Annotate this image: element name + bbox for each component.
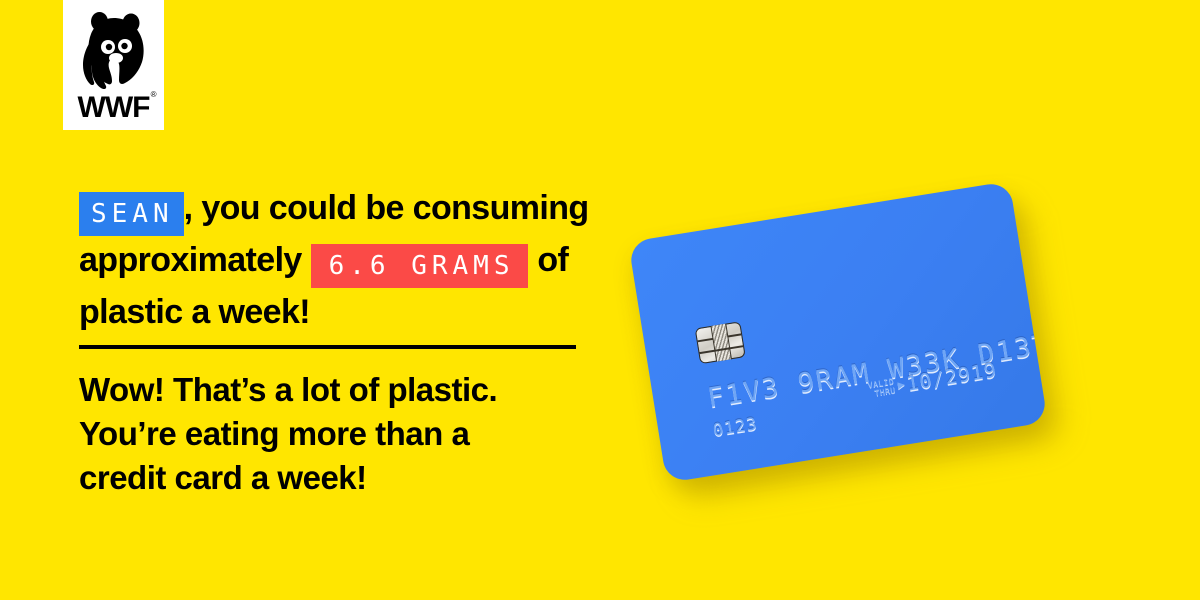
credit-card-illustration: F1V3 9RAM W33K D13T 0123 VALID THRU ▶ 10… [600,140,1120,560]
headline-part-1: , you could be consuming [184,189,589,227]
section-divider [79,345,576,349]
plastic-amount-highlight: 6.6 GRAMS [311,244,529,288]
headline-part-2: approximately [79,241,302,279]
headline: SEAN, you could be consuming approximate… [79,182,599,338]
valid-thru-label: VALID THRU [867,377,896,399]
subcopy-line-1: Wow! That’s a lot of plastic. [79,368,599,412]
emv-chip-contacts [710,324,731,362]
subcopy-line-3: credit card a week! [79,456,599,500]
wwf-logo-block: WWF® [63,0,164,130]
recipient-name-highlight: SEAN [79,192,184,236]
card-number-line-2: 0123 [712,414,760,441]
subcopy: Wow! That’s a lot of plastic. You’re eat… [79,368,599,500]
emv-chip-icon [695,321,746,364]
wwf-panda-logo-icon [75,10,153,92]
valid-thru-arrow-icon: ▶ [897,379,906,391]
poster-canvas: WWF® SEAN, you could be consuming approx… [0,0,1200,600]
wwf-wordmark-text: WWF [78,91,150,124]
subcopy-line-2: You’re eating more than a [79,412,599,456]
wwf-wordmark: WWF® [78,93,150,123]
registered-trademark-icon: ® [151,91,157,99]
